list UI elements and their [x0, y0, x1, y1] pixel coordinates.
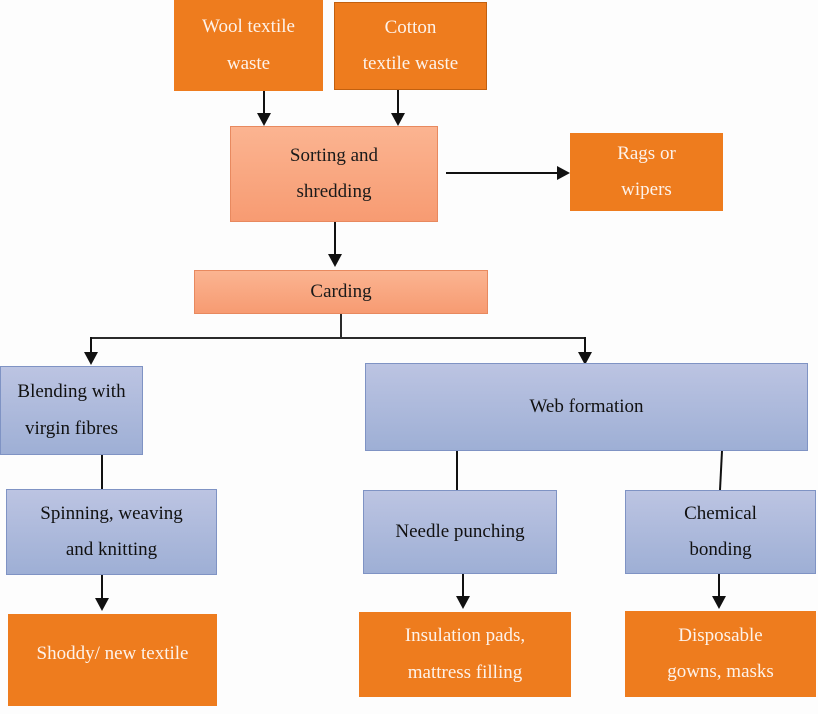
connector-cotton-to-sorting [397, 90, 399, 115]
node-web-formation-label: Web formation [366, 389, 807, 425]
arrowhead-needle-to-insulation [456, 596, 470, 609]
node-chemical-bonding[interactable]: Chemical bonding [625, 490, 816, 574]
node-carding[interactable]: Carding [194, 270, 488, 314]
arrowhead-wool-to-sorting [257, 113, 271, 126]
node-web-formation[interactable]: Web formation [365, 363, 808, 451]
arrowhead-bus-to-blending [84, 352, 98, 365]
node-wool-textile-waste-label: Wool textile waste [174, 9, 323, 81]
flowchart-canvas: Wool textile waste Cotton textile waste … [0, 0, 818, 714]
arrowhead-sorting-to-rags [557, 166, 570, 180]
node-rags-or-wipers[interactable]: Rags or wipers [570, 133, 723, 211]
connector-wool-to-sorting [263, 91, 265, 115]
connector-carding-stem [340, 314, 342, 338]
node-sorting-and-shredding-label: Sorting and shredding [231, 138, 437, 210]
node-carding-label: Carding [195, 274, 487, 310]
arrowhead-spinning-to-shoddy [95, 598, 109, 611]
node-shoddy-new-textile[interactable]: Shoddy/ new textile [8, 614, 217, 706]
node-needle-punching-label: Needle punching [364, 514, 556, 550]
node-cotton-textile-waste-label: Cotton textile waste [335, 10, 486, 82]
node-spinning-weaving-and-knitting-label: Spinning, weaving and knitting [7, 496, 216, 568]
node-needle-punching[interactable]: Needle punching [363, 490, 557, 574]
node-insulation-pads-mattress-filling-label: Insulation pads, mattress filling [359, 618, 571, 690]
connector-carding-bus [90, 337, 586, 339]
node-rags-or-wipers-label: Rags or wipers [570, 136, 723, 208]
node-shoddy-new-textile-label: Shoddy/ new textile [8, 636, 217, 672]
connector-sorting-to-rags [446, 172, 560, 174]
node-blending-with-virgin-fibres[interactable]: Blending with virgin fibres [0, 366, 143, 455]
node-chemical-bonding-label: Chemical bonding [626, 496, 815, 568]
connector-web-to-chemical-bonding [700, 451, 740, 491]
node-insulation-pads-mattress-filling[interactable]: Insulation pads, mattress filling [359, 612, 571, 697]
node-spinning-weaving-and-knitting[interactable]: Spinning, weaving and knitting [6, 489, 217, 575]
node-wool-textile-waste[interactable]: Wool textile waste [174, 0, 323, 91]
arrowhead-cotton-to-sorting [391, 113, 405, 126]
connector-web-to-needle-punching [456, 451, 458, 490]
node-disposable-gowns-masks[interactable]: Disposable gowns, masks [625, 611, 816, 697]
arrowhead-sorting-to-carding [328, 254, 342, 267]
connector-blending-to-spinning [101, 455, 103, 489]
node-blending-with-virgin-fibres-label: Blending with virgin fibres [1, 374, 142, 446]
node-sorting-and-shredding[interactable]: Sorting and shredding [230, 126, 438, 222]
arrowhead-chemical-to-disposable [712, 596, 726, 609]
connector-sorting-to-carding [334, 222, 336, 256]
node-disposable-gowns-masks-label: Disposable gowns, masks [625, 618, 816, 690]
node-cotton-textile-waste[interactable]: Cotton textile waste [334, 2, 487, 90]
